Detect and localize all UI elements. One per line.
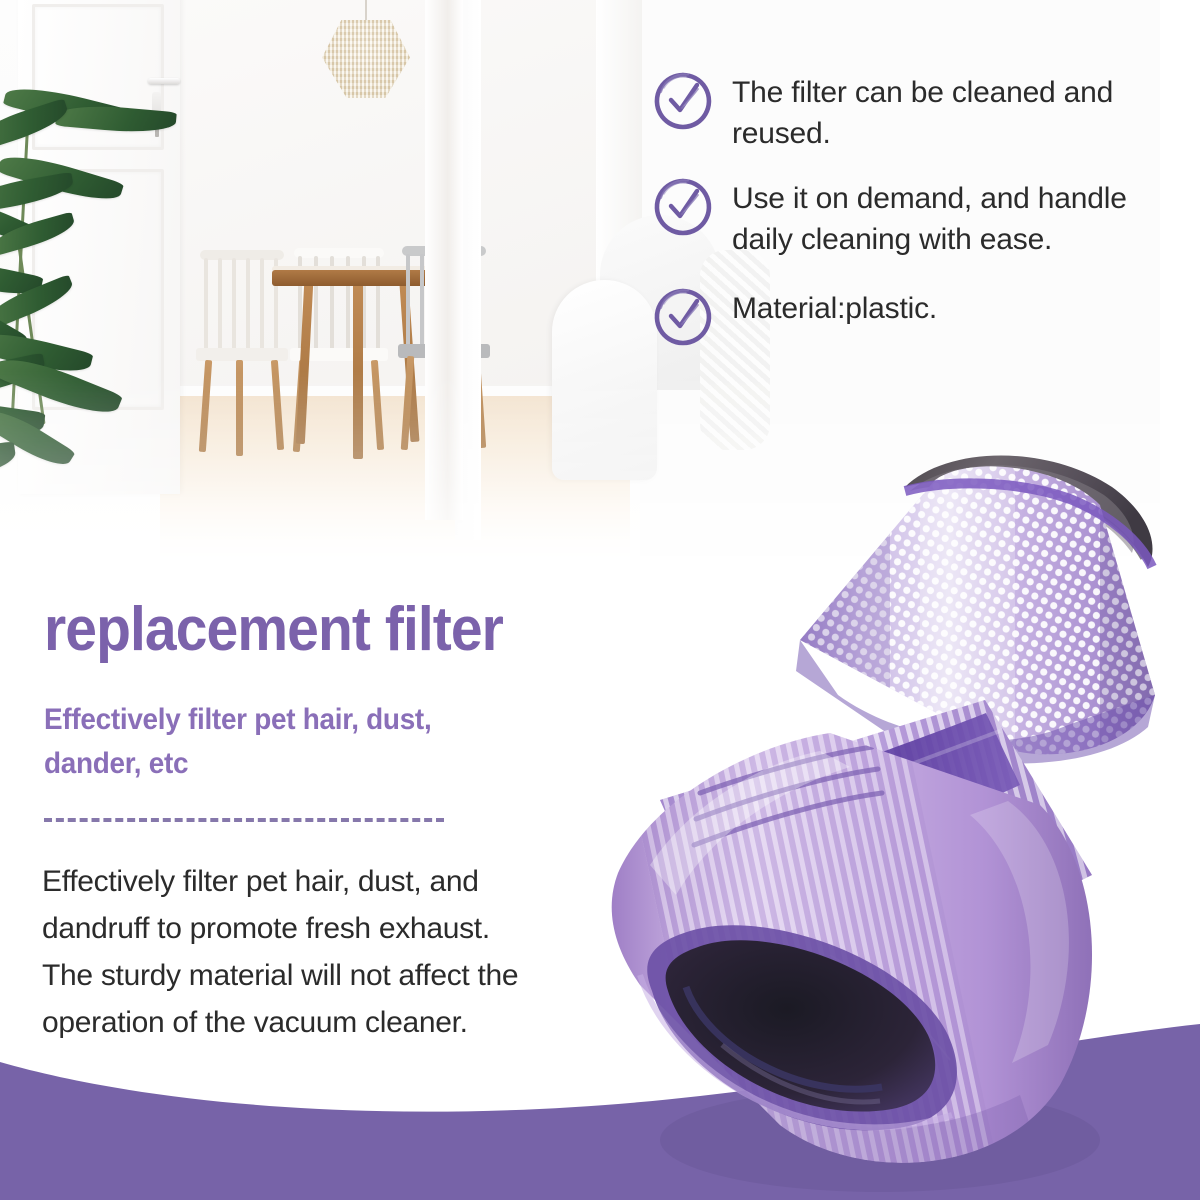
check-circle-icon (652, 70, 714, 132)
list-item: Use it on demand, and handle daily clean… (652, 176, 1172, 260)
list-item: Material:plastic. (652, 286, 1172, 348)
page-title: replacement filter (44, 598, 578, 662)
dashed-divider (44, 818, 444, 822)
description-text: Effectively filter pet hair, dust, and d… (42, 858, 522, 1046)
feature-text: The filter can be cleaned and reused. (732, 70, 1152, 154)
feature-text: Material:plastic. (732, 286, 937, 329)
lamp-cord (365, 0, 367, 22)
feature-list: The filter can be cleaned and reused. Us… (652, 70, 1172, 370)
feature-text: Use it on demand, and handle daily clean… (732, 176, 1172, 260)
door-handle-icon (148, 78, 180, 84)
houseplant (0, 95, 195, 515)
check-circle-icon (652, 286, 714, 348)
list-item: The filter can be cleaned and reused. (652, 70, 1172, 154)
check-circle-icon (652, 176, 714, 238)
page-subtitle: Effectively filter pet hair, dust, dande… (44, 698, 481, 786)
product-marketing-image: The filter can be cleaned and reused. Us… (0, 0, 1200, 1200)
product-image (500, 395, 1200, 1200)
